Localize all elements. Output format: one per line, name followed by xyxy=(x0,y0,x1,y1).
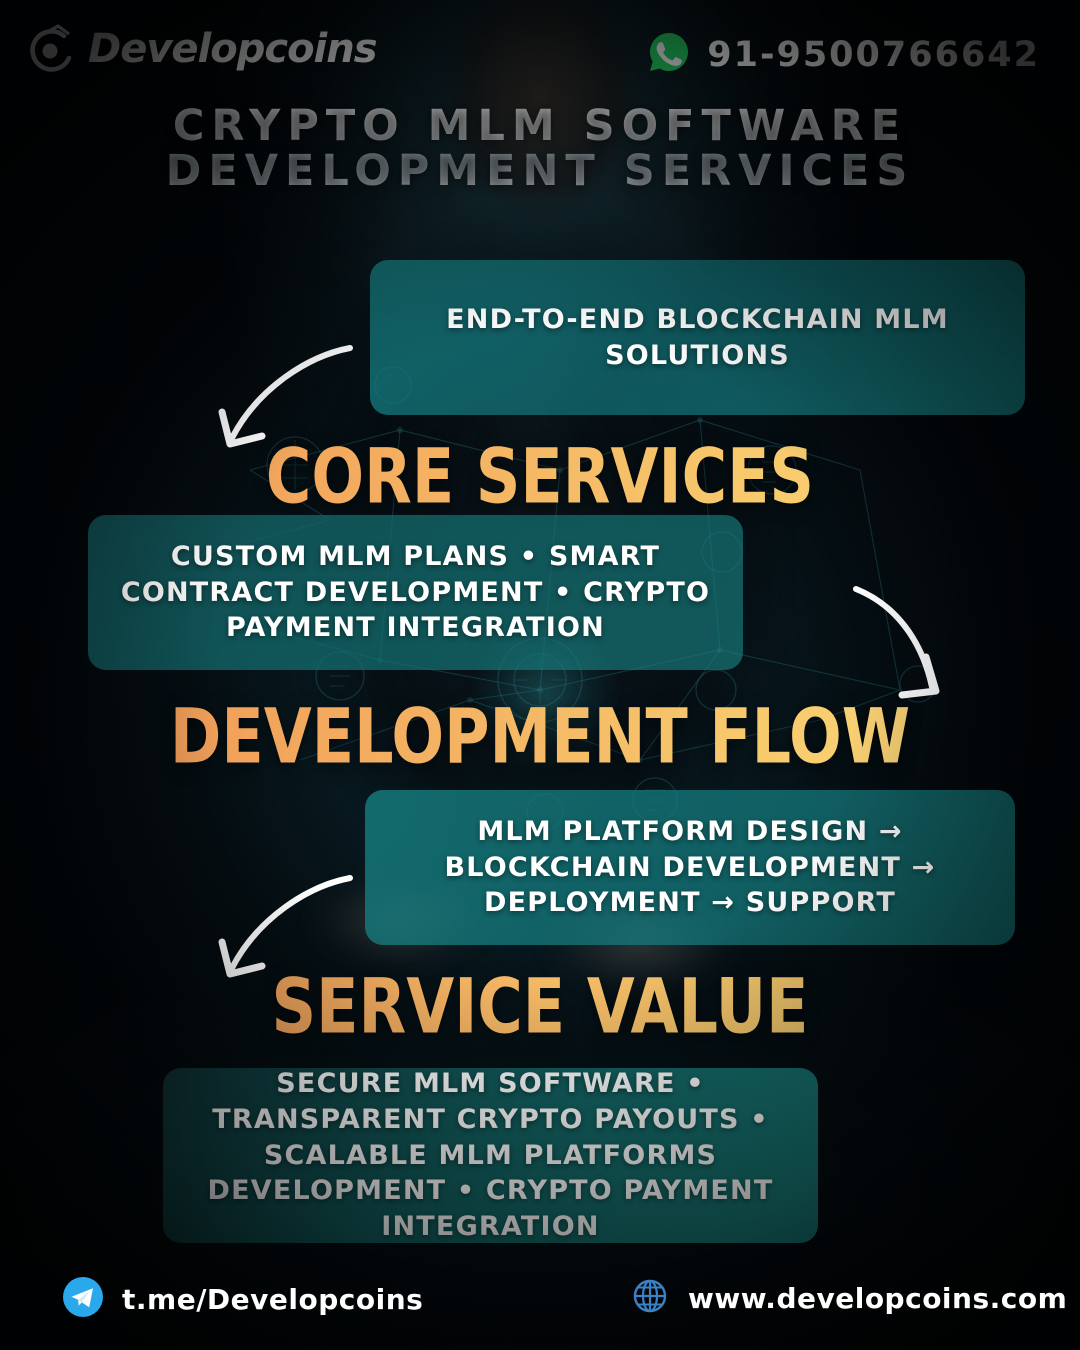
heading-core-services: CORE SERVICES xyxy=(0,432,1080,521)
telegram-icon xyxy=(62,1276,104,1323)
poster-canvas: Developcoins 91-9500766642 CRYPTO MLM SO… xyxy=(0,0,1080,1350)
brand-logo[interactable]: Developcoins xyxy=(24,22,377,76)
header: Developcoins 91-9500766642 xyxy=(0,0,1080,100)
page-title-line-2: DEVELOPMENT SERVICES xyxy=(0,149,1080,194)
brand-logo-text: Developcoins xyxy=(88,26,377,72)
heading-service-value: SERVICE VALUE xyxy=(0,962,1080,1051)
card-core-services-list: CUSTOM MLM PLANS • SMART CONTRACT DEVELO… xyxy=(88,515,743,670)
heading-development-flow: DEVELOPMENT FLOW xyxy=(0,692,1080,781)
card-development-flow-steps: MLM PLATFORM DESIGN → BLOCKCHAIN DEVELOP… xyxy=(365,790,1015,945)
developcoins-circle-icon xyxy=(24,22,78,76)
whatsapp-contact[interactable]: 91-9500766642 xyxy=(647,30,1040,79)
footer-website-link[interactable]: www.developcoins.com xyxy=(630,1276,1067,1321)
globe-icon xyxy=(630,1276,670,1321)
page-title: CRYPTO MLM SOFTWARE DEVELOPMENT SERVICES xyxy=(0,104,1080,194)
card-service-value-list: SECURE MLM SOFTWARE • TRANSPARENT CRYPTO… xyxy=(163,1068,818,1243)
whatsapp-phone-number: 91-9500766642 xyxy=(707,35,1040,75)
whatsapp-icon xyxy=(647,30,691,79)
footer: t.me/Developcoins www.developcoins.com xyxy=(0,1258,1080,1350)
curved-arrow-down-right-icon xyxy=(850,565,970,705)
card-end-to-end-solutions: END-TO-END BLOCKCHAIN MLM SOLUTIONS xyxy=(370,260,1025,415)
footer-telegram-text: t.me/Developcoins xyxy=(122,1283,423,1316)
page-title-line-1: CRYPTO MLM SOFTWARE xyxy=(173,101,907,151)
footer-telegram-link[interactable]: t.me/Developcoins xyxy=(62,1276,423,1323)
footer-website-text: www.developcoins.com xyxy=(688,1282,1067,1315)
